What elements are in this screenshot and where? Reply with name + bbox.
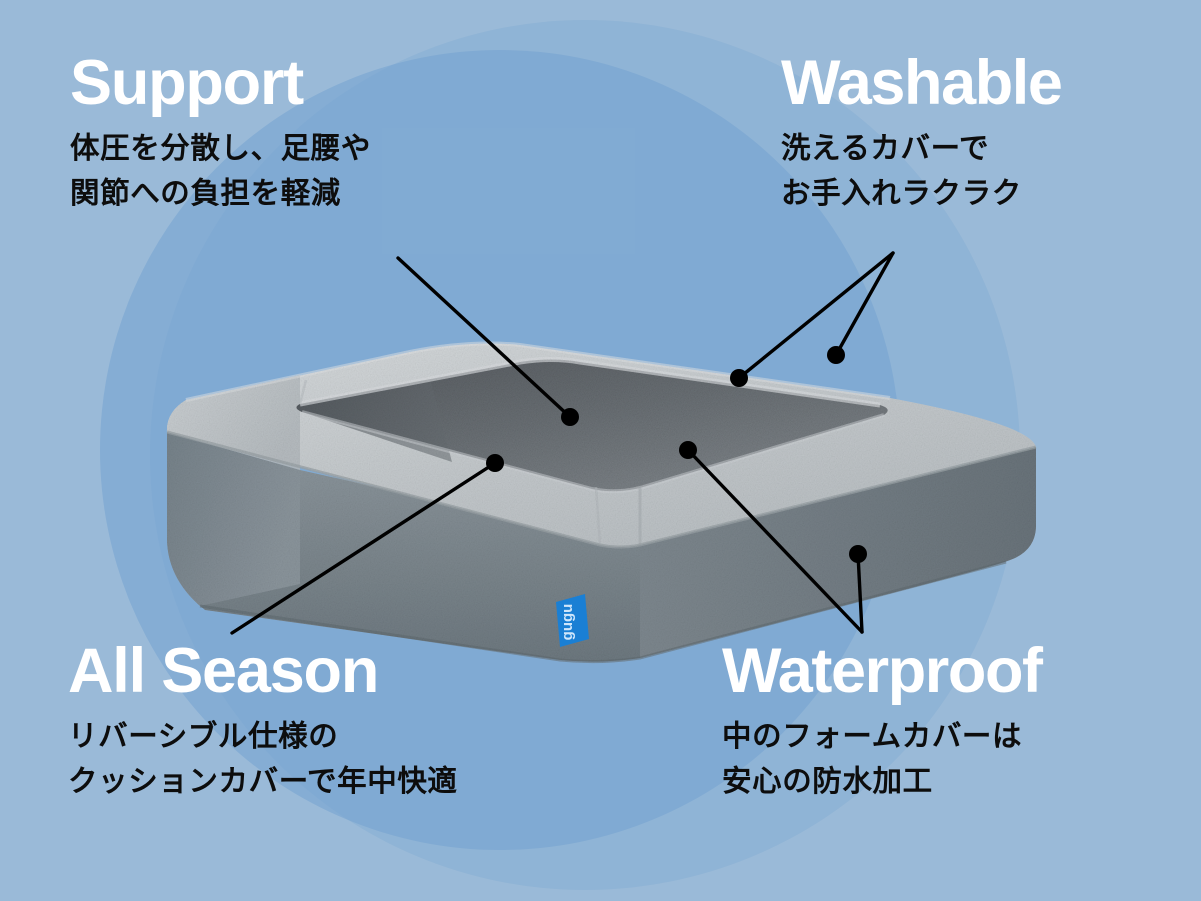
leader-line-waterproof-b [858,554,862,632]
feature-block-support: Support 体圧を分散し、足腰や 関節への負担を軽減 [70,52,371,217]
callout-dot-washable-b [827,346,845,364]
feature-description-washable-line2: お手入れラクラク [781,172,1062,217]
feature-heading-waterproof: Waterproof [722,640,1042,703]
feature-description-all-season-line1: リバーシブル仕様の [68,715,458,760]
leader-line-support [398,258,570,417]
feature-description-support-line1: 体圧を分散し、足腰や [70,127,371,172]
feature-description-support-line2: 関節への負担を軽減 [70,172,371,217]
feature-block-washable: Washable 洗えるカバーで お手入れラクラク [781,52,1062,217]
feature-block-waterproof: Waterproof 中のフォームカバーは 安心の防水加工 [722,640,1042,805]
callout-dot-washable-a [730,369,748,387]
callout-dot-all-season [486,454,504,472]
leader-line-washable-b [836,253,893,355]
feature-description-all-season-line2: クッションカバーで年中快適 [68,760,458,805]
feature-description-waterproof-line2: 安心の防水加工 [722,760,1042,805]
feature-description-waterproof-line1: 中のフォームカバーは [722,715,1042,760]
callout-dot-waterproof-a [679,441,697,459]
feature-block-all-season: All Season リバーシブル仕様の クッションカバーで年中快適 [68,640,458,805]
callout-dot-waterproof-b [849,545,867,563]
leader-line-all-season [232,463,495,633]
leader-line-waterproof-a [688,450,862,632]
callout-dot-support [561,408,579,426]
feature-heading-support: Support [70,52,371,115]
feature-heading-washable: Washable [781,52,1062,115]
feature-heading-all-season: All Season [68,640,458,703]
infographic-canvas: gugu Support 体圧を分散し、足腰や 関節への負担を [0,0,1201,901]
feature-description-washable-line1: 洗えるカバーで [781,127,1062,172]
leader-line-washable-a [739,253,893,378]
